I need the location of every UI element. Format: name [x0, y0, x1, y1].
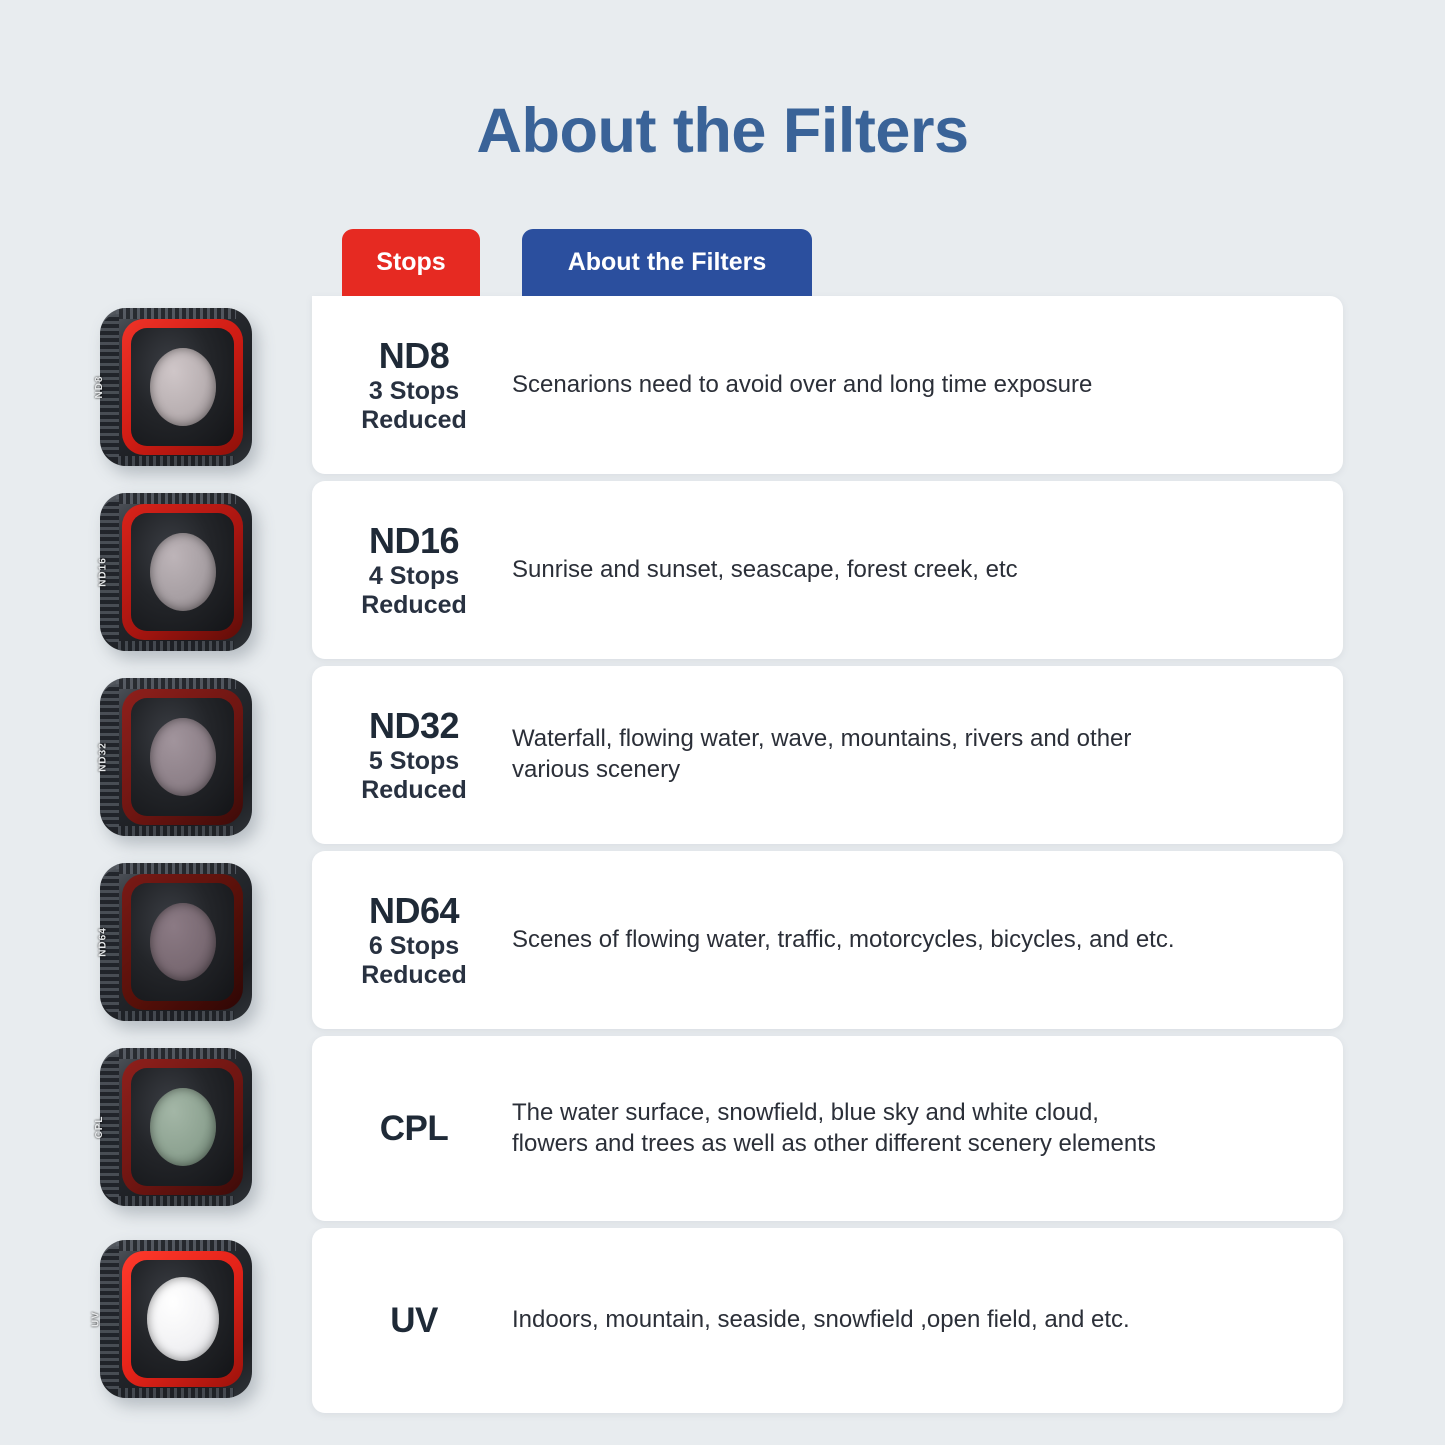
stops-value: 6 Stops: [330, 933, 498, 960]
description-line: Scenarions need to avoid over and long t…: [512, 370, 1303, 401]
description-line: Sunrise and sunset, seascape, forest cre…: [512, 555, 1303, 586]
tab-stops-label: Stops: [376, 248, 445, 277]
filter-image-nd64: ND64: [100, 863, 252, 1021]
stops-cell: UV: [312, 1301, 498, 1340]
table-row: ND64 ND64 6 Stops Reduced Scenes of flow…: [0, 851, 1445, 1029]
filter-name: ND16: [330, 521, 498, 561]
table-row: ND16 ND16 4 Stops Reduced Sunrise and su…: [0, 481, 1445, 659]
filter-name: ND8: [330, 336, 498, 376]
stops-reduced-label: Reduced: [330, 407, 498, 434]
filter-name: ND32: [330, 706, 498, 746]
filter-card-nd16: ND16 4 Stops Reduced Sunrise and sunset,…: [312, 481, 1343, 659]
table-row: ND8 ND8 3 Stops Reduced Scenarions need …: [0, 296, 1445, 474]
filter-image-nd16: ND16: [100, 493, 252, 651]
description-line: Waterfall, flowing water, wave, mountain…: [512, 724, 1303, 755]
description-cell: Sunrise and sunset, seascape, forest cre…: [498, 555, 1343, 586]
filter-card-uv: UV Indoors, mountain, seaside, snowfield…: [312, 1228, 1343, 1413]
description-cell: Indoors, mountain, seaside, snowfield ,o…: [498, 1305, 1343, 1336]
stops-cell: ND16 4 Stops Reduced: [312, 521, 498, 619]
tab-about-label: About the Filters: [568, 248, 767, 277]
stops-cell: ND8 3 Stops Reduced: [312, 336, 498, 434]
filter-card-cpl: CPL The water surface, snowfield, blue s…: [312, 1036, 1343, 1221]
filter-name: ND64: [330, 891, 498, 931]
stops-value: 4 Stops: [330, 563, 498, 590]
stops-cell: ND64 6 Stops Reduced: [312, 891, 498, 989]
table-row: UV UV Indoors, mountain, seaside, snowfi…: [0, 1228, 1445, 1413]
tab-about-the-filters[interactable]: About the Filters: [522, 229, 812, 296]
filter-side-label: ND16: [97, 557, 108, 587]
description-cell: Scenarions need to avoid over and long t…: [498, 370, 1343, 401]
stops-value: 3 Stops: [330, 378, 498, 405]
stops-reduced-label: Reduced: [330, 592, 498, 619]
stops-value: 5 Stops: [330, 748, 498, 775]
filter-image-cpl: CPL: [100, 1048, 252, 1206]
filter-side-label: ND64: [97, 927, 108, 957]
filter-card-nd32: ND32 5 Stops Reduced Waterfall, flowing …: [312, 666, 1343, 844]
filter-image-nd8: ND8: [100, 308, 252, 466]
description-line: Indoors, mountain, seaside, snowfield ,o…: [512, 1305, 1303, 1336]
filter-name: CPL: [330, 1109, 498, 1148]
description-line: flowers and trees as well as other diffe…: [512, 1129, 1303, 1160]
description-cell: The water surface, snowfield, blue sky a…: [498, 1098, 1343, 1159]
description-line: various scenery: [512, 755, 1303, 786]
filter-side-label: CPL: [94, 1116, 105, 1139]
filter-side-label: UV: [90, 1311, 101, 1327]
filter-rows: ND8 ND8 3 Stops Reduced Scenarions need …: [0, 296, 1445, 1420]
table-header-tabs: Stops About the Filters: [342, 229, 812, 296]
table-row: ND32 ND32 5 Stops Reduced Waterfall, flo…: [0, 666, 1445, 844]
stops-cell: ND32 5 Stops Reduced: [312, 706, 498, 804]
filter-image-nd32: ND32: [100, 678, 252, 836]
description-cell: Waterfall, flowing water, wave, mountain…: [498, 724, 1343, 785]
filter-side-label: ND8: [94, 375, 105, 398]
filter-name: UV: [330, 1301, 498, 1340]
stops-cell: CPL: [312, 1109, 498, 1148]
filter-side-label: ND32: [97, 742, 108, 772]
stops-reduced-label: Reduced: [330, 777, 498, 804]
page-title: About the Filters: [0, 95, 1445, 167]
filter-image-uv: UV: [100, 1240, 252, 1398]
tab-stops[interactable]: Stops: [342, 229, 480, 296]
description-line: Scenes of flowing water, traffic, motorc…: [512, 925, 1303, 956]
description-cell: Scenes of flowing water, traffic, motorc…: [498, 925, 1343, 956]
description-line: The water surface, snowfield, blue sky a…: [512, 1098, 1303, 1129]
table-row: CPL CPL The water surface, snowfield, bl…: [0, 1036, 1445, 1221]
filter-card-nd64: ND64 6 Stops Reduced Scenes of flowing w…: [312, 851, 1343, 1029]
filter-card-nd8: ND8 3 Stops Reduced Scenarions need to a…: [312, 296, 1343, 474]
stops-reduced-label: Reduced: [330, 962, 498, 989]
